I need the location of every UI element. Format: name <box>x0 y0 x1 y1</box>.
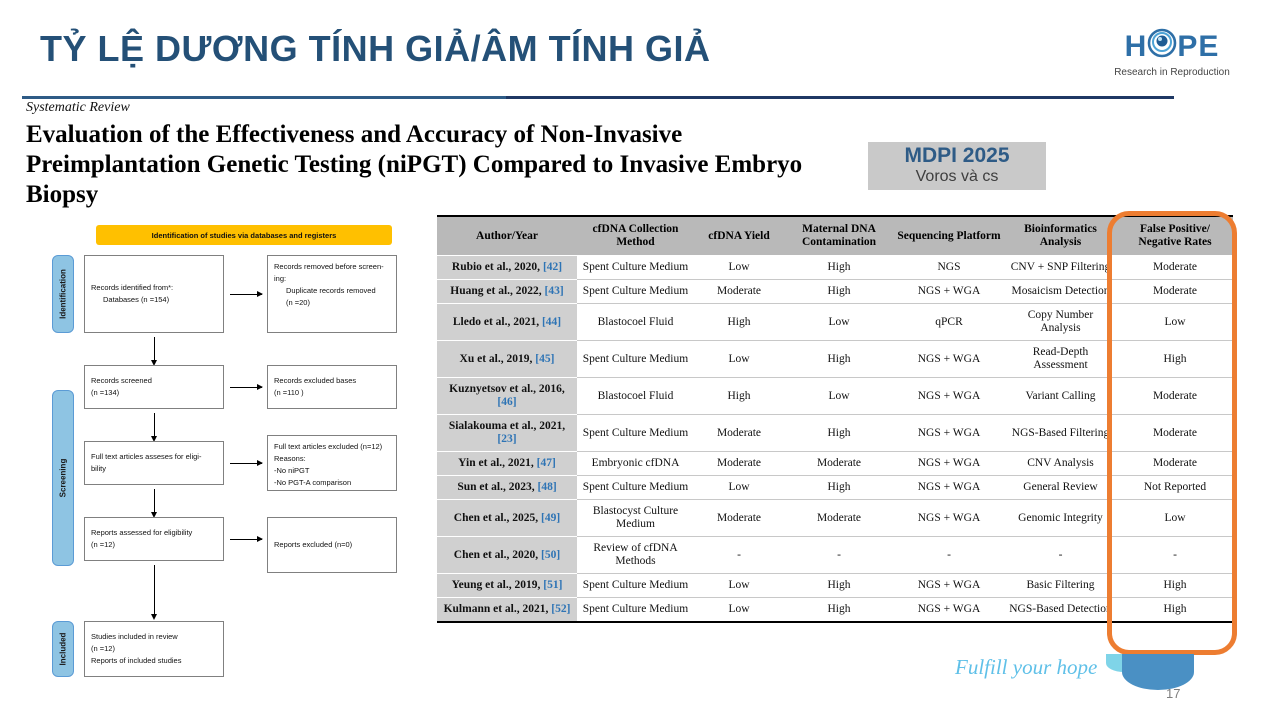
cell-cfdna-collection-method: Spent Culture Medium <box>577 341 694 378</box>
prisma-box-records-identified: Records identified from*: Databases (n =… <box>84 255 224 333</box>
cell-cfdna-yield: Low <box>694 598 784 623</box>
prisma-arrow-8 <box>154 565 155 615</box>
source-badge: MDPI 2025 Voros và cs <box>868 142 1046 190</box>
prisma-arrow-1 <box>230 294 262 295</box>
prisma-box-reports-excluded: Reports excluded (n=0) <box>267 517 397 573</box>
studies-table-wrapper: Author/Year cfDNA Collection Method cfDN… <box>437 215 1233 623</box>
prisma-records-screened-line2: (n =134) <box>91 387 152 399</box>
footer-tagline: Fulfill your hope <box>955 655 1097 680</box>
prisma-records-screened-line1: Records screened <box>91 375 152 387</box>
title-divider-segment-left <box>22 96 506 99</box>
prisma-records-excluded-line2: (n =110 ) <box>274 387 356 399</box>
table-row: Xu et al., 2019, [45]Spent Culture Mediu… <box>437 341 1233 378</box>
cell-bioinformatics-analysis: General Review <box>1004 476 1117 500</box>
cell-cfdna-yield: Low <box>694 256 784 280</box>
cell-false-positive-negative-rates: Low <box>1117 304 1233 341</box>
cell-sequencing-platform: NGS + WGA <box>894 415 1004 452</box>
col-header-cfdna-yield: cfDNA Yield <box>694 216 784 256</box>
cell-bioinformatics-analysis: NGS-Based Detection <box>1004 598 1117 623</box>
source-badge-authors: Voros và cs <box>916 167 999 187</box>
table-body: Rubio et al., 2020, [42]Spent Culture Me… <box>437 256 1233 623</box>
citation-ref[interactable]: [46] <box>497 396 516 408</box>
cell-sequencing-platform: NGS + WGA <box>894 280 1004 304</box>
prisma-included-line3: Reports of included studies <box>91 655 181 667</box>
cell-maternal-dna-contamination: Moderate <box>784 452 894 476</box>
cell-sequencing-platform: NGS + WGA <box>894 452 1004 476</box>
cell-cfdna-yield: High <box>694 378 784 415</box>
prisma-stage-identification: Identification <box>52 255 74 333</box>
prisma-box-studies-included: Studies included in review (n =12) Repor… <box>84 621 224 677</box>
cell-maternal-dna-contamination: High <box>784 574 894 598</box>
cell-cfdna-collection-method: Spent Culture Medium <box>577 574 694 598</box>
cell-maternal-dna-contamination: Low <box>784 304 894 341</box>
citation-ref[interactable]: [42] <box>543 261 562 273</box>
cell-false-positive-negative-rates: Moderate <box>1117 256 1233 280</box>
col-header-bioinformatics-analysis: Bioinformatics Analysis <box>1004 216 1117 256</box>
cell-false-positive-negative-rates: Not Reported <box>1117 476 1233 500</box>
col-header-maternal-dna-contamination: Maternal DNA Contamination <box>784 216 894 256</box>
prisma-stage-identification-label: Identification <box>59 269 68 319</box>
hope-logo-h: H <box>1125 30 1148 63</box>
cell-cfdna-collection-method: Spent Culture Medium <box>577 415 694 452</box>
cell-sequencing-platform: - <box>894 537 1004 574</box>
paper-title: Evaluation of the Effectiveness and Accu… <box>26 120 836 210</box>
cell-bioinformatics-analysis: - <box>1004 537 1117 574</box>
citation-ref[interactable]: [47] <box>537 457 556 469</box>
cell-author-year: Chen et al., 2025, [49] <box>437 500 577 537</box>
col-header-author-year: Author/Year <box>437 216 577 256</box>
cell-sequencing-platform: NGS + WGA <box>894 341 1004 378</box>
col-header-false-positive-negative-rates: False Positive/ Negative Rates <box>1117 216 1233 256</box>
prisma-box-fulltext-assessed: Full text articles asseses for eligi- bi… <box>84 441 224 485</box>
hope-logo-tagline: Research in Reproduction <box>1086 67 1258 78</box>
table-row: Rubio et al., 2020, [42]Spent Culture Me… <box>437 256 1233 280</box>
cell-maternal-dna-contamination: High <box>784 415 894 452</box>
cell-cfdna-collection-method: Blastocyst Culture Medium <box>577 500 694 537</box>
prisma-box-records-removed: Records removed before screen- ing: Dupl… <box>267 255 397 333</box>
cell-bioinformatics-analysis: Mosaicism Detection <box>1004 280 1117 304</box>
citation-ref[interactable]: [23] <box>497 433 516 445</box>
hope-logo-wordmark: HPE <box>1086 28 1258 65</box>
cell-bioinformatics-analysis: NGS-Based Filtering <box>1004 415 1117 452</box>
prisma-stage-included: Included <box>52 621 74 677</box>
cell-author-year: Huang et al., 2022, [43] <box>437 280 577 304</box>
citation-ref[interactable]: [43] <box>545 285 564 297</box>
cell-author-year: Kuznyetsov et al., 2016, [46] <box>437 378 577 415</box>
table-header-row: Author/Year cfDNA Collection Method cfDN… <box>437 216 1233 256</box>
source-badge-journal: MDPI 2025 <box>904 145 1009 167</box>
citation-ref[interactable]: [45] <box>535 353 554 365</box>
citation-ref[interactable]: [48] <box>538 481 557 493</box>
cell-bioinformatics-analysis: Genomic Integrity <box>1004 500 1117 537</box>
cell-author-year: Lledo et al., 2021, [44] <box>437 304 577 341</box>
prisma-included-line2: (n =12) <box>91 643 181 655</box>
prisma-stage-included-label: Included <box>59 633 68 666</box>
cell-bioinformatics-analysis: CNV + SNP Filtering <box>1004 256 1117 280</box>
prisma-flow-diagram: Identification of studies via databases … <box>52 225 400 687</box>
page-title: TỶ LỆ DƯƠNG TÍNH GIẢ/ÂM TÍNH GIẢ <box>40 28 711 70</box>
cell-maternal-dna-contamination: High <box>784 256 894 280</box>
prisma-arrow-7 <box>230 539 262 540</box>
prisma-records-removed-line4: (n =20) <box>274 297 310 309</box>
prisma-arrow-3 <box>230 387 262 388</box>
cell-false-positive-negative-rates: Low <box>1117 500 1233 537</box>
prisma-box-fulltext-excluded: Full text articles excluded (n=12) Reaso… <box>267 435 397 491</box>
col-header-sequencing-platform: Sequencing Platform <box>894 216 1004 256</box>
cell-maternal-dna-contamination: Low <box>784 378 894 415</box>
citation-ref[interactable]: [49] <box>541 512 560 524</box>
cell-false-positive-negative-rates: High <box>1117 341 1233 378</box>
cell-cfdna-yield: High <box>694 304 784 341</box>
prisma-arrow-6 <box>154 489 155 513</box>
cell-sequencing-platform: NGS + WGA <box>894 476 1004 500</box>
cell-false-positive-negative-rates: Moderate <box>1117 378 1233 415</box>
cell-false-positive-negative-rates: - <box>1117 537 1233 574</box>
cell-author-year: Chen et al., 2020, [50] <box>437 537 577 574</box>
cell-false-positive-negative-rates: High <box>1117 574 1233 598</box>
slide-canvas: TỶ LỆ DƯƠNG TÍNH GIẢ/ÂM TÍNH GIẢ HPE Res… <box>0 0 1280 720</box>
prisma-stage-screening-label: Screening <box>59 459 68 498</box>
studies-table: Author/Year cfDNA Collection Method cfDN… <box>437 215 1233 623</box>
cell-sequencing-platform: NGS + WGA <box>894 598 1004 623</box>
hope-logo-o-icon <box>1147 28 1177 65</box>
prisma-records-removed-line1: Records removed before screen- <box>274 261 390 273</box>
table-row: Kulmann et al., 2021, [52]Spent Culture … <box>437 598 1233 623</box>
cell-cfdna-collection-method: Spent Culture Medium <box>577 476 694 500</box>
table-row: Chen et al., 2025, [49]Blastocyst Cultur… <box>437 500 1233 537</box>
prisma-ftexcluded-line3: -No niPGT <box>274 465 390 477</box>
citation-ref[interactable]: [44] <box>542 316 561 328</box>
cell-cfdna-yield: Moderate <box>694 415 784 452</box>
hope-logo: HPE Research in Reproduction <box>1086 28 1258 84</box>
prisma-fulltext-line2: bility <box>91 463 201 475</box>
cell-sequencing-platform: NGS + WGA <box>894 574 1004 598</box>
cell-author-year: Yeung et al., 2019, [51] <box>437 574 577 598</box>
table-row: Kuznyetsov et al., 2016, [46]Blastocoel … <box>437 378 1233 415</box>
prisma-banner: Identification of studies via databases … <box>96 225 392 245</box>
cell-maternal-dna-contamination: High <box>784 280 894 304</box>
hope-logo-pe: PE <box>1177 30 1219 63</box>
footer-accent-shape <box>1122 654 1194 690</box>
cell-bioinformatics-analysis: Read-Depth Assessment <box>1004 341 1117 378</box>
citation-ref[interactable]: [50] <box>541 549 560 561</box>
cell-false-positive-negative-rates: Moderate <box>1117 280 1233 304</box>
cell-author-year: Kulmann et al., 2021, [52] <box>437 598 577 623</box>
cell-cfdna-yield: Low <box>694 574 784 598</box>
cell-maternal-dna-contamination: Moderate <box>784 500 894 537</box>
prisma-included-line1: Studies included in review <box>91 631 181 643</box>
cell-cfdna-collection-method: Blastocoel Fluid <box>577 378 694 415</box>
prisma-records-identified-line1: Records identified from*: <box>91 282 173 294</box>
cell-sequencing-platform: NGS + WGA <box>894 500 1004 537</box>
prisma-ftexcluded-line2: Reasons: <box>274 453 390 465</box>
cell-false-positive-negative-rates: Moderate <box>1117 452 1233 476</box>
cell-cfdna-yield: Low <box>694 476 784 500</box>
cell-maternal-dna-contamination: High <box>784 341 894 378</box>
cell-false-positive-negative-rates: Moderate <box>1117 415 1233 452</box>
prisma-ftexcluded-line1: Full text articles excluded (n=12) <box>274 441 390 453</box>
cell-sequencing-platform: qPCR <box>894 304 1004 341</box>
prisma-stage-screening: Screening <box>52 390 74 566</box>
prisma-arrow-4 <box>154 413 155 437</box>
cell-bioinformatics-analysis: CNV Analysis <box>1004 452 1117 476</box>
table-row: Lledo et al., 2021, [44]Blastocoel Fluid… <box>437 304 1233 341</box>
cell-cfdna-collection-method: Blastocoel Fluid <box>577 304 694 341</box>
prisma-records-identified-line2: Databases (n =154) <box>91 294 169 306</box>
prisma-box-records-excluded: Records excluded bases (n =110 ) <box>267 365 397 409</box>
cell-author-year: Xu et al., 2019, [45] <box>437 341 577 378</box>
cell-author-year: Rubio et al., 2020, [42] <box>437 256 577 280</box>
table-row: Yeung et al., 2019, [51]Spent Culture Me… <box>437 574 1233 598</box>
prisma-repexcluded-line1: Reports excluded (n=0) <box>274 539 352 551</box>
citation-ref[interactable]: [51] <box>543 579 562 591</box>
cell-author-year: Sialakouma et al., 2021, [23] <box>437 415 577 452</box>
cell-cfdna-collection-method: Embryonic cfDNA <box>577 452 694 476</box>
col-header-cfdna-collection-method: cfDNA Collection Method <box>577 216 694 256</box>
cell-cfdna-collection-method: Spent Culture Medium <box>577 598 694 623</box>
cell-bioinformatics-analysis: Variant Calling <box>1004 378 1117 415</box>
prisma-records-removed-line3: Duplicate records removed <box>274 285 376 297</box>
prisma-reports-line1: Reports assessed for eligibility <box>91 527 192 539</box>
cell-cfdna-yield: Moderate <box>694 280 784 304</box>
prisma-fulltext-line1: Full text articles asseses for eligi- <box>91 451 201 463</box>
table-row: Chen et al., 2020, [50]Review of cfDNA M… <box>437 537 1233 574</box>
prisma-records-excluded-line1: Records excluded bases <box>274 375 356 387</box>
title-divider-segment-right <box>506 96 1174 99</box>
cell-sequencing-platform: NGS + WGA <box>894 378 1004 415</box>
cell-maternal-dna-contamination: High <box>784 476 894 500</box>
cell-bioinformatics-analysis: Basic Filtering <box>1004 574 1117 598</box>
paper-kind-label: Systematic Review <box>26 100 130 116</box>
cell-cfdna-yield: - <box>694 537 784 574</box>
cell-cfdna-collection-method: Spent Culture Medium <box>577 256 694 280</box>
table-row: Sun et al., 2023, [48]Spent Culture Medi… <box>437 476 1233 500</box>
table-row: Huang et al., 2022, [43]Spent Culture Me… <box>437 280 1233 304</box>
prisma-box-records-screened: Records screened (n =134) <box>84 365 224 409</box>
cell-cfdna-yield: Low <box>694 341 784 378</box>
cell-cfdna-collection-method: Review of cfDNA Methods <box>577 537 694 574</box>
cell-false-positive-negative-rates: High <box>1117 598 1233 623</box>
cell-author-year: Yin et al., 2021, [47] <box>437 452 577 476</box>
prisma-box-reports-assessed: Reports assessed for eligibility (n =12) <box>84 517 224 561</box>
prisma-records-removed-line2: ing: <box>274 273 390 285</box>
prisma-arrow-2 <box>154 337 155 361</box>
cell-cfdna-yield: Moderate <box>694 452 784 476</box>
cell-sequencing-platform: NGS <box>894 256 1004 280</box>
cell-cfdna-yield: Moderate <box>694 500 784 537</box>
prisma-arrow-5 <box>230 463 262 464</box>
cell-cfdna-collection-method: Spent Culture Medium <box>577 280 694 304</box>
cell-author-year: Sun et al., 2023, [48] <box>437 476 577 500</box>
table-row: Yin et al., 2021, [47]Embryonic cfDNAMod… <box>437 452 1233 476</box>
citation-ref[interactable]: [52] <box>551 603 570 615</box>
prisma-reports-line2: (n =12) <box>91 539 192 551</box>
cell-bioinformatics-analysis: Copy Number Analysis <box>1004 304 1117 341</box>
table-row: Sialakouma et al., 2021, [23]Spent Cultu… <box>437 415 1233 452</box>
page-number: 17 <box>1166 686 1180 701</box>
cell-maternal-dna-contamination: - <box>784 537 894 574</box>
prisma-ftexcluded-line4: -No PGT-A comparison <box>274 477 390 489</box>
cell-maternal-dna-contamination: High <box>784 598 894 623</box>
title-divider <box>22 96 1174 99</box>
